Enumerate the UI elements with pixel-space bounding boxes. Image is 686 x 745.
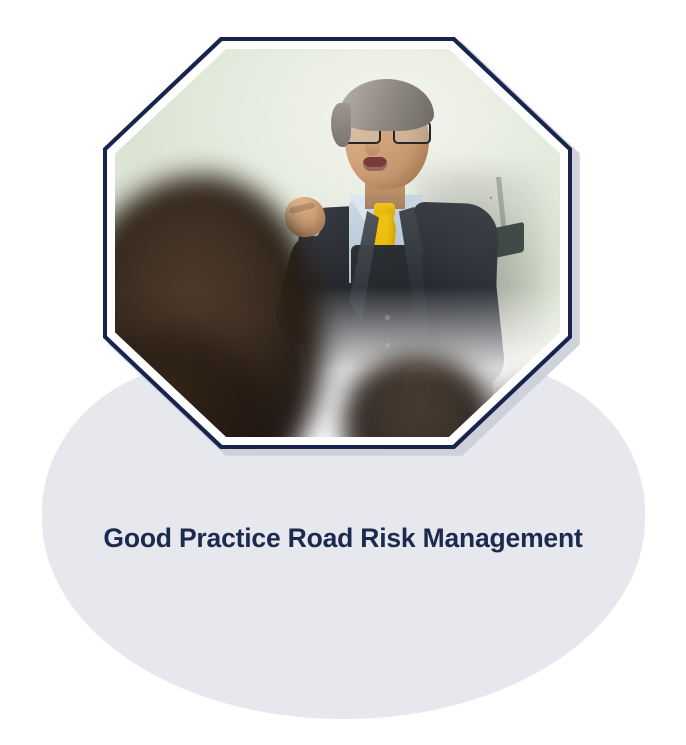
presenter-photo xyxy=(115,49,560,437)
photo-scene xyxy=(115,49,560,437)
screenshot-stage: Good Practice Road Risk Management xyxy=(0,0,686,745)
presenter-hair-side xyxy=(331,103,351,147)
card-title: Good Practice Road Risk Management xyxy=(0,523,686,554)
presenter-hair xyxy=(339,79,434,131)
presenter-mouth xyxy=(363,157,387,171)
hexagon-photo-tile[interactable] xyxy=(98,30,576,450)
